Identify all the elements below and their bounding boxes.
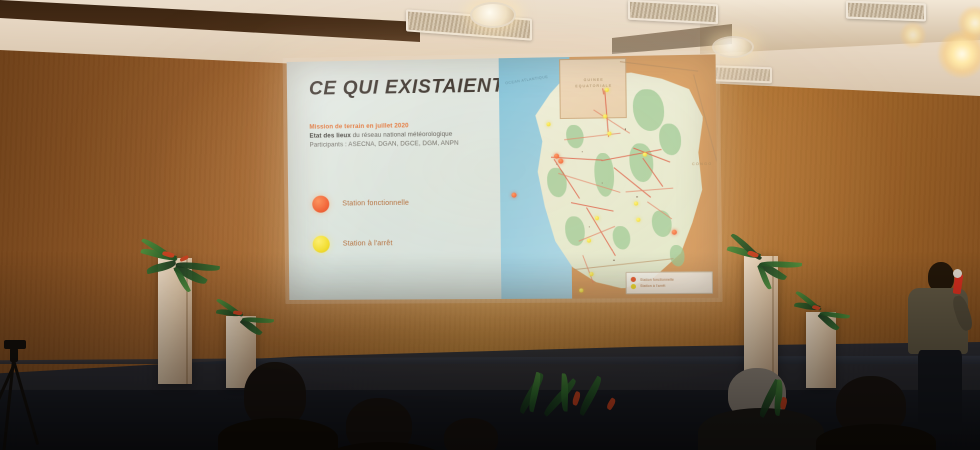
audience-shoulders bbox=[218, 418, 338, 450]
forest-patch bbox=[565, 216, 585, 245]
slide-title: CE QUI EXISTAIENT bbox=[309, 75, 504, 100]
ceiling-downlight-1 bbox=[470, 2, 516, 28]
conference-room-scene: CE QUI EXISTAIENT Mission de terrain en … bbox=[0, 0, 980, 450]
equatorial-guinea-label: GUINEE EQUATORIALE bbox=[563, 78, 624, 90]
station-marker-functional bbox=[554, 154, 559, 159]
station-marker-stopped bbox=[589, 272, 593, 276]
map-legend-label-stopped: Station à l'arrêt bbox=[640, 284, 665, 288]
projection-screen: CE QUI EXISTAIENT Mission de terrain en … bbox=[287, 54, 719, 300]
map-legend-item-functional: Station fonctionnelle bbox=[631, 276, 708, 282]
map-legend-item-stopped: Station à l'arrêt bbox=[631, 283, 708, 289]
orange-dot-icon bbox=[631, 277, 636, 282]
legend-label-stopped: Station à l'arrêt bbox=[343, 240, 393, 247]
slide-legend: Station fonctionnelle Station à l'arrêt bbox=[312, 195, 410, 276]
gabon-map: OCEAN ATLANTIQUE GUINEE EQUATORIALE CONG… bbox=[499, 54, 719, 299]
city-dot bbox=[556, 163, 557, 164]
slide-body-line-2-rest: du réseau national météorologique bbox=[351, 130, 453, 138]
legend-label-functional: Station fonctionnelle bbox=[342, 200, 409, 208]
station-marker-stopped bbox=[579, 289, 583, 293]
yellow-dot-icon bbox=[313, 236, 330, 253]
station-marker-stopped bbox=[605, 88, 609, 92]
map-legend-label-functional: Station fonctionnelle bbox=[640, 277, 674, 281]
pendant-lamp-3 bbox=[900, 22, 926, 48]
map-legend-box: Station fonctionnelle Station à l'arrêt bbox=[625, 271, 713, 294]
congo-label: CONGO bbox=[692, 162, 712, 166]
presentation-slide: CE QUI EXISTAIENT Mission de terrain en … bbox=[287, 54, 719, 300]
ceiling-vent-3 bbox=[846, 1, 926, 22]
station-marker-functional bbox=[558, 159, 563, 164]
guinea-label-line2: EQUATORIALE bbox=[563, 83, 624, 90]
audience-head bbox=[444, 418, 498, 450]
speaker-pants bbox=[918, 350, 962, 434]
legend-item-functional: Station fonctionnelle bbox=[312, 195, 409, 213]
station-marker-stopped bbox=[607, 131, 611, 135]
station-marker-stopped bbox=[603, 114, 607, 118]
slide-body-text: Mission de terrain en juillet 2020 Etat … bbox=[309, 121, 496, 150]
station-marker-stopped bbox=[642, 153, 646, 157]
station-marker-stopped bbox=[634, 201, 638, 205]
yellow-dot-icon bbox=[631, 284, 636, 289]
border-line bbox=[620, 61, 698, 71]
orange-dot-icon bbox=[312, 196, 329, 213]
station-marker-stopped bbox=[587, 238, 591, 242]
forest-patch bbox=[547, 168, 567, 197]
city-dot bbox=[625, 129, 626, 130]
microphone-head bbox=[953, 269, 962, 278]
legend-item-stopped: Station à l'arrêt bbox=[313, 235, 410, 253]
station-marker-functional bbox=[511, 193, 516, 198]
slide-body-line-2-bold: Etat des lieux bbox=[309, 132, 350, 140]
